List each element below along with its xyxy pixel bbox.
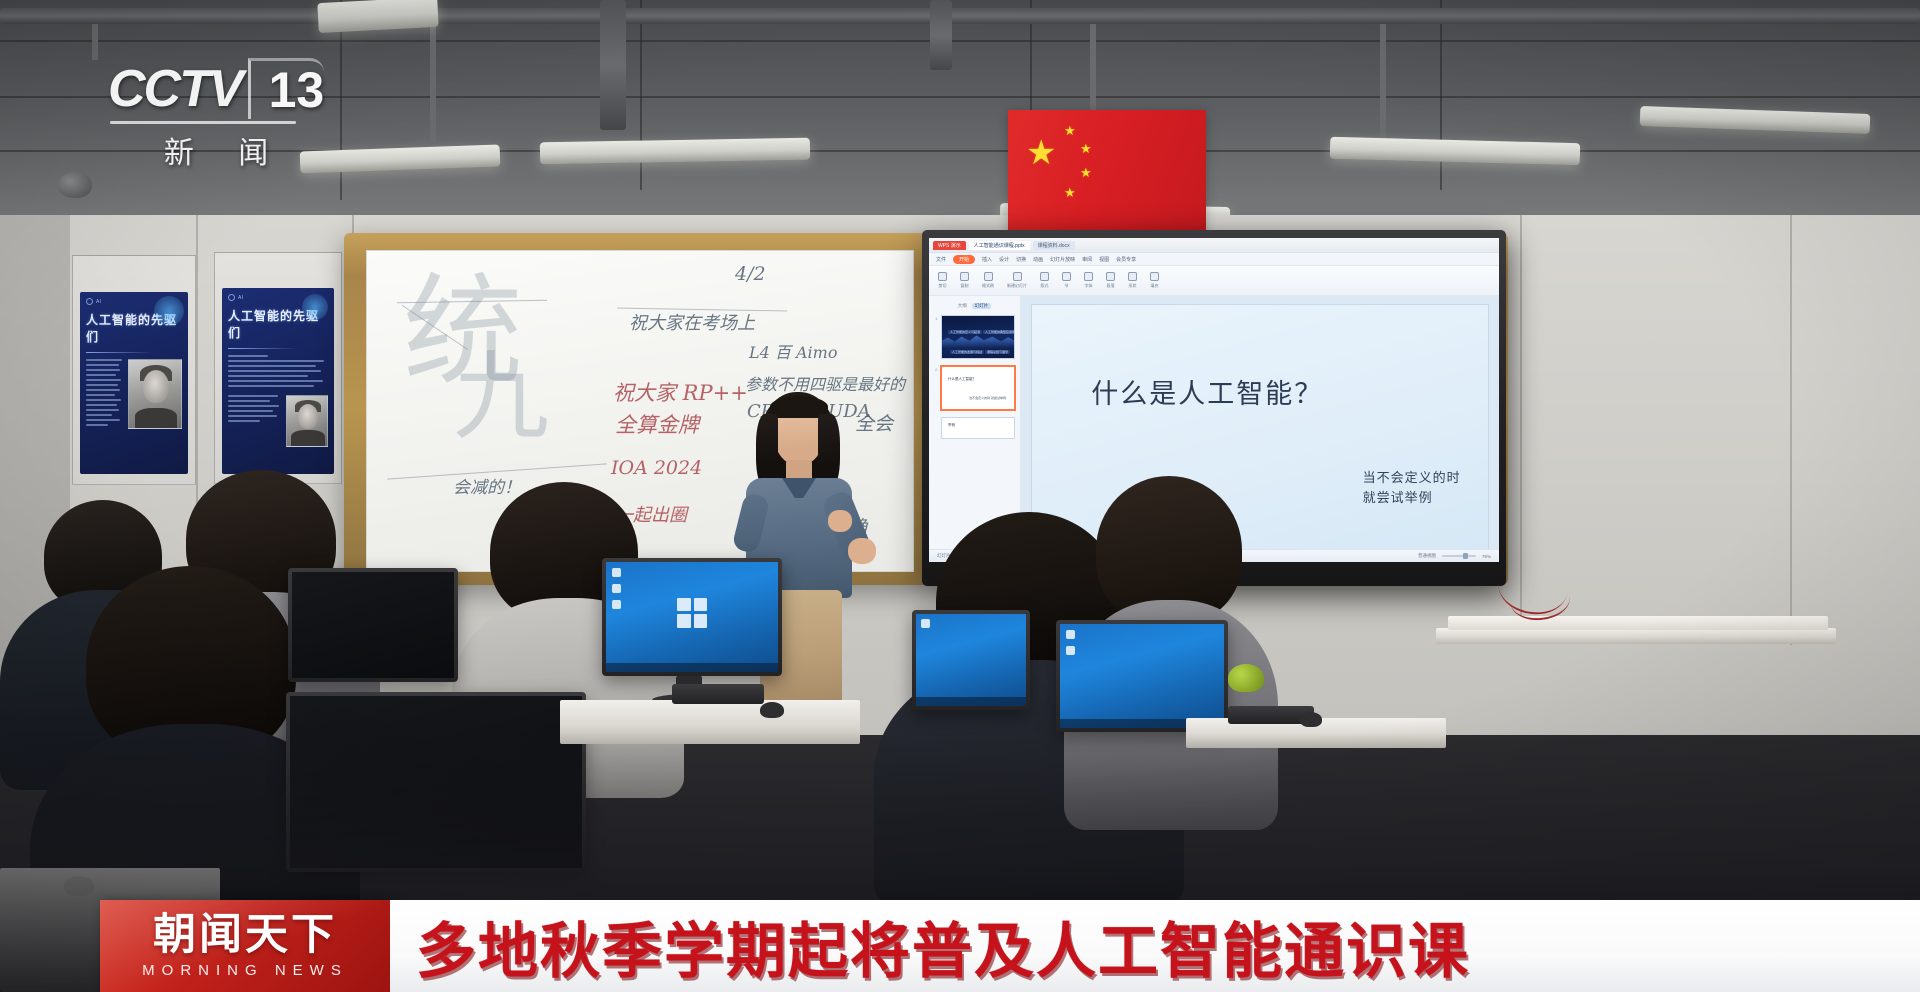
poster-ai-pioneers-2: AI 人工智能的先驱们 bbox=[222, 288, 334, 474]
current-slide[interactable]: 什么是人工智能？ 当不会定义的时 就尝试举例 bbox=[1031, 304, 1489, 554]
whiteboard-note-2: L4 百 Aimo bbox=[749, 339, 837, 363]
poster-portrait-turing bbox=[128, 359, 182, 429]
slide-thumbnail-1-content: 人工智能的定义与起源 人工智能的典型应用场景 人工智能的发展与挑战 课程总结与展… bbox=[942, 316, 1014, 358]
format-brush-icon bbox=[984, 272, 993, 281]
channel-number-box: 13 bbox=[248, 58, 325, 119]
thumbnail-tab-outline[interactable]: 大纲 bbox=[958, 303, 967, 309]
monitor-far-right[interactable] bbox=[912, 610, 1030, 710]
flag-star-2: ★ bbox=[1080, 142, 1092, 155]
ceiling-light-1 bbox=[317, 0, 438, 33]
font-icon bbox=[1084, 272, 1093, 281]
zoom-slider-knob[interactable] bbox=[1463, 553, 1468, 559]
status-zoom-level[interactable]: 76% bbox=[1482, 554, 1491, 559]
whiteboard-note-4: 祝大家 RP++ bbox=[613, 377, 748, 407]
slide-thumbnail-2[interactable]: 2 什么是人工智能？ 当不会定义的时 就尝试举例 bbox=[941, 366, 1015, 410]
slide1-chip-3: 人工智能的发展与挑战 bbox=[950, 350, 984, 354]
ceiling-light-3 bbox=[540, 138, 810, 165]
ceiling-beam bbox=[600, 0, 626, 130]
teacher-hair-side-right bbox=[818, 414, 840, 488]
layout-icon bbox=[1040, 272, 1049, 281]
poster-glow-icon-2 bbox=[302, 294, 328, 320]
green-ball-prop bbox=[1228, 664, 1264, 692]
headline-bar: 多地秋季学期起将普及人工智能通识课 bbox=[390, 900, 1920, 992]
zoom-slider[interactable] bbox=[1442, 555, 1476, 557]
whiteboard-big-scribble-2: 九 bbox=[453, 349, 549, 445]
poster-brand-label: AI bbox=[96, 299, 102, 305]
monitor-right[interactable] bbox=[1056, 620, 1228, 732]
flag-star-4: ★ bbox=[1064, 186, 1076, 199]
flag-star-3: ★ bbox=[1080, 166, 1092, 179]
ribbon-button-fill[interactable]: 填充 bbox=[1150, 272, 1159, 289]
teacher-hair-side-left bbox=[756, 414, 778, 488]
wps-brand-tab[interactable]: WPS 演示 bbox=[933, 241, 966, 250]
new-slide-icon bbox=[1013, 272, 1022, 281]
whiteboard-note-date: 4/2 bbox=[735, 263, 766, 285]
ceiling-light-5 bbox=[1330, 137, 1580, 166]
ribbon-tab-review[interactable]: 审阅 bbox=[1082, 256, 1092, 263]
ribbon-button-copy[interactable]: 复制 bbox=[960, 272, 969, 289]
side-table bbox=[1436, 628, 1836, 644]
monitor-foreground-off[interactable] bbox=[286, 692, 586, 872]
slide-thumbnail-3-content: 举例 bbox=[942, 418, 1014, 438]
wps-ribbon-tab-strip[interactable]: 文件 开始 插入 设计 切换 动画 幻灯片放映 审阅 视图 会员专享 bbox=[929, 253, 1499, 266]
poster-glow-icon bbox=[154, 296, 184, 326]
teacher-hand-left bbox=[828, 510, 852, 532]
flag-star-1: ★ bbox=[1064, 124, 1076, 137]
wps-titlebar: WPS 演示 人工智能通识课程.pptx 课程资料.docx bbox=[929, 238, 1499, 253]
poster-portrait-minsky bbox=[286, 395, 328, 447]
channel-logo-number: 13 bbox=[269, 62, 325, 118]
channel-logo-word: CCTV bbox=[108, 59, 242, 119]
ribbon-button-new-slide[interactable]: 新建幻灯片 bbox=[1007, 272, 1027, 289]
mouse-right[interactable] bbox=[1300, 712, 1322, 727]
whiteboard-note-6: 全算金牌 bbox=[615, 409, 699, 439]
ribbon-tab-member[interactable]: 会员专享 bbox=[1116, 256, 1136, 263]
side-table-top bbox=[1448, 616, 1828, 630]
broadcast-frame: ★ ★ ★ ★ ★ AI 人工智能的先驱们 bbox=[0, 0, 1920, 992]
channel-logo-row: CCTV 13 bbox=[108, 58, 324, 119]
ceiling-light-6 bbox=[1640, 106, 1871, 134]
ribbon-button-font[interactable]: 字体 bbox=[1084, 272, 1093, 289]
light-rod-1 bbox=[92, 24, 98, 60]
desk-center bbox=[560, 700, 860, 744]
ribbon-button-shape[interactable]: 形状 bbox=[1128, 272, 1137, 289]
ribbon-tab-design[interactable]: 设计 bbox=[999, 256, 1009, 263]
program-badge: 朝闻天下 MORNING NEWS bbox=[100, 900, 390, 992]
wps-document-tab-2[interactable]: 课程资料.docx bbox=[1033, 241, 1075, 250]
ribbon-tab-file[interactable]: 文件 bbox=[936, 256, 946, 263]
keyboard-center[interactable] bbox=[672, 684, 764, 704]
ribbon-button-layout[interactable]: 版式 bbox=[1040, 272, 1049, 289]
whiteboard-note-10: 会减的！ bbox=[453, 473, 521, 498]
poster-logo-icon bbox=[86, 298, 93, 305]
poster-body bbox=[86, 359, 182, 429]
poster-text-lines bbox=[86, 359, 123, 429]
windows-logo-icon bbox=[677, 598, 707, 628]
light-rod-2 bbox=[430, 24, 436, 142]
ribbon-label-format-brush: 格式刷 bbox=[982, 283, 994, 289]
slide3-thumb-title: 举例 bbox=[948, 423, 955, 428]
slide1-chip-2: 人工智能的典型应用场景 bbox=[983, 330, 1014, 334]
whiteboard-note-8: IOA 2024 bbox=[611, 457, 702, 479]
monitor-foreground-screen[interactable] bbox=[290, 696, 582, 868]
slide1-chip-1: 人工智能的定义与起源 bbox=[948, 330, 982, 334]
copy-icon bbox=[960, 272, 969, 281]
program-name-en: MORNING NEWS bbox=[142, 962, 348, 979]
slide1-chip-4: 课程总结与展望 bbox=[985, 350, 1010, 354]
whiteboard-note-1: 祝大家在考场上 bbox=[629, 309, 755, 335]
ribbon-tab-view[interactable]: 视图 bbox=[1099, 256, 1109, 263]
channel-logo-subtitle: 新 闻 bbox=[126, 128, 324, 172]
slide-note-line-1: 当不会定义的时 bbox=[1363, 468, 1461, 488]
ribbon-label-cut: 剪切 bbox=[938, 283, 947, 289]
slide-number-2: 2 bbox=[935, 367, 937, 372]
poster-brand-label-2: AI bbox=[238, 295, 244, 301]
ribbon-tab-slideshow[interactable]: 幻灯片放映 bbox=[1050, 256, 1075, 263]
slide2-thumb-title: 什么是人工智能？ bbox=[948, 377, 976, 382]
wps-document-tab-active[interactable]: 人工智能通识课程.pptx bbox=[969, 241, 1030, 250]
monitor-center[interactable] bbox=[602, 558, 782, 676]
slide-title: 什么是人工智能？ bbox=[1091, 372, 1323, 411]
monitor-left-screen[interactable] bbox=[292, 572, 454, 678]
mouse-center[interactable] bbox=[760, 702, 784, 718]
slide-editing-area[interactable]: 什么是人工智能？ 当不会定义的时 就尝试举例 bbox=[1021, 296, 1499, 562]
ribbon-label-align: 段落 bbox=[1106, 283, 1115, 289]
ribbon-tab-home[interactable]: 开始 bbox=[953, 255, 975, 264]
ribbon-button-align[interactable]: 段落 bbox=[1106, 272, 1115, 289]
slide-thumbnail-3[interactable]: 3 举例 bbox=[941, 417, 1015, 439]
channel-logo: CCTV 13 新 闻 bbox=[108, 58, 324, 172]
ribbon-label-layout: 版式 bbox=[1040, 283, 1049, 289]
poster-divider-2 bbox=[228, 348, 298, 349]
slide2-thumb-note: 当不会定义的时 就尝试举例 bbox=[969, 396, 1006, 401]
monitor-right-screen[interactable] bbox=[1060, 624, 1224, 728]
ribbon-label-fill: 填充 bbox=[1150, 283, 1159, 289]
monitor-left-off[interactable] bbox=[288, 568, 458, 682]
ceiling-beam-2 bbox=[930, 0, 952, 70]
poster-ai-pioneers-1: AI 人工智能的先驱们 bbox=[80, 292, 188, 474]
teacher-hand-right bbox=[848, 538, 876, 564]
ribbon-label-copy: 复制 bbox=[960, 283, 969, 289]
poster-logo-icon-2 bbox=[228, 294, 235, 301]
poster-text-lines-3 bbox=[228, 395, 282, 447]
fill-icon bbox=[1150, 272, 1159, 281]
ribbon-button-format-brush[interactable]: 格式刷 bbox=[982, 272, 994, 289]
security-camera-icon bbox=[58, 172, 92, 198]
ribbon-label-shape: 形状 bbox=[1128, 283, 1137, 289]
status-view-label[interactable]: 普通视图 bbox=[1418, 553, 1436, 559]
monitor-far-right-screen[interactable] bbox=[916, 614, 1026, 706]
china-flag: ★ ★ ★ ★ ★ bbox=[1008, 110, 1206, 244]
poster-text-lines-2 bbox=[228, 355, 328, 390]
flag-star-large: ★ bbox=[1026, 136, 1056, 170]
poster-body-2 bbox=[228, 355, 328, 447]
program-name-cn: 朝闻天下 bbox=[153, 914, 337, 957]
ribbon-button-cut[interactable]: 剪切 bbox=[938, 272, 947, 289]
monitor-center-screen[interactable] bbox=[606, 562, 778, 672]
monitor-far-right-taskbar[interactable] bbox=[916, 697, 1026, 706]
ribbon-label-new-slide: 新建幻灯片 bbox=[1007, 283, 1027, 289]
lower-third-banner: 朝闻天下 MORNING NEWS 多地秋季学期起将普及人工智能通识课 bbox=[100, 900, 1920, 992]
ribbon-tab-transition[interactable]: 切换 bbox=[1016, 256, 1026, 263]
slide-thumbnail-1[interactable]: 1 人工智能的定义与起源 人工智能的典型应用场景 人工智能的发展与挑战 课程总结… bbox=[941, 315, 1015, 359]
section-icon bbox=[1062, 272, 1071, 281]
monitor-center-taskbar[interactable] bbox=[606, 663, 778, 672]
light-rod-4 bbox=[1380, 24, 1386, 142]
cut-icon bbox=[938, 272, 947, 281]
slide-number-1: 1 bbox=[935, 316, 937, 321]
ribbon-label-font: 字体 bbox=[1084, 283, 1093, 289]
ribbon-tab-insert[interactable]: 插入 bbox=[982, 256, 992, 263]
align-icon bbox=[1106, 272, 1115, 281]
thumbnail-pane-tabs[interactable]: 大纲 幻灯片 bbox=[934, 303, 1015, 309]
slide-wave-graphic bbox=[942, 332, 1014, 348]
ribbon-tab-animation[interactable]: 动画 bbox=[1033, 256, 1043, 263]
slide-note: 当不会定义的时 就尝试举例 bbox=[1363, 468, 1461, 508]
slide-thumbnail-2-content: 什么是人工智能？ 当不会定义的时 就尝试举例 bbox=[942, 367, 1014, 409]
ceiling-duct bbox=[0, 8, 1920, 24]
wps-ribbon[interactable]: 剪切 复制 格式刷 新建幻灯片 版式 bbox=[929, 266, 1499, 296]
mouse-foreground[interactable] bbox=[64, 876, 94, 896]
shape-icon bbox=[1128, 272, 1137, 281]
headline-text: 多地秋季学期起将普及人工智能通识课 bbox=[416, 903, 1470, 990]
light-rod-3 bbox=[1090, 24, 1096, 114]
ribbon-label-section: 节 bbox=[1062, 283, 1071, 289]
poster-divider bbox=[86, 352, 153, 353]
ceiling-light-2 bbox=[300, 145, 501, 174]
ribbon-button-section[interactable]: 节 bbox=[1062, 272, 1071, 289]
slide-note-line-2: 就尝试举例 bbox=[1363, 488, 1461, 508]
channel-logo-underline bbox=[110, 121, 296, 124]
thumbnail-tab-slides[interactable]: 幻灯片 bbox=[972, 303, 992, 309]
